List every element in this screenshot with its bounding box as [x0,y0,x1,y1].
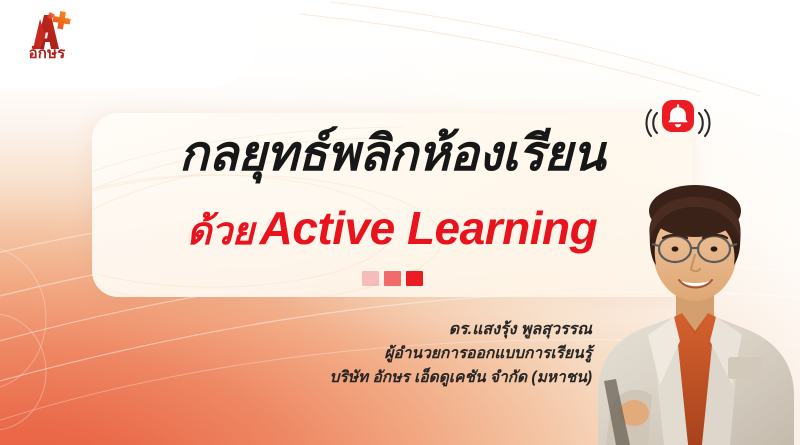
notification-bell[interactable] [640,96,716,148]
speaker-name: ดร.แสงรุ้ง พูลสุวรรณ [330,318,592,342]
speaker-portrait-illustration [590,145,800,445]
speaker-credits: ดร.แสงรุ้ง พูลสุวรรณ ผู้อำนวยการออกแบบกา… [330,318,592,389]
a-plus-logo-icon [20,9,72,49]
swatch-light [362,271,379,286]
page-subtitle-thai: ด้วย [187,211,254,253]
bell-icon[interactable] [640,96,716,148]
swatch-mid [384,271,401,286]
slide-canvas: อักษร กลยุทธ์พลิกห้องเรียน ด้วยActive Le… [0,0,800,445]
speaker-role: ผู้อำนวยการออกแบบการเรียนรู้ [330,342,592,366]
brand-logo-wordmark: อักษร [17,46,77,61]
speaker-portrait [590,145,800,445]
page-subtitle-english: Active Learning [260,202,598,254]
swatch-dark [406,271,423,286]
brand-logo[interactable]: อักษร [0,0,258,88]
speaker-organization: บริษัท อักษร เอ็ดดูเคชัน จำกัด (มหาชน) [330,366,592,390]
brand-logo-inner: อักษร [14,9,80,75]
